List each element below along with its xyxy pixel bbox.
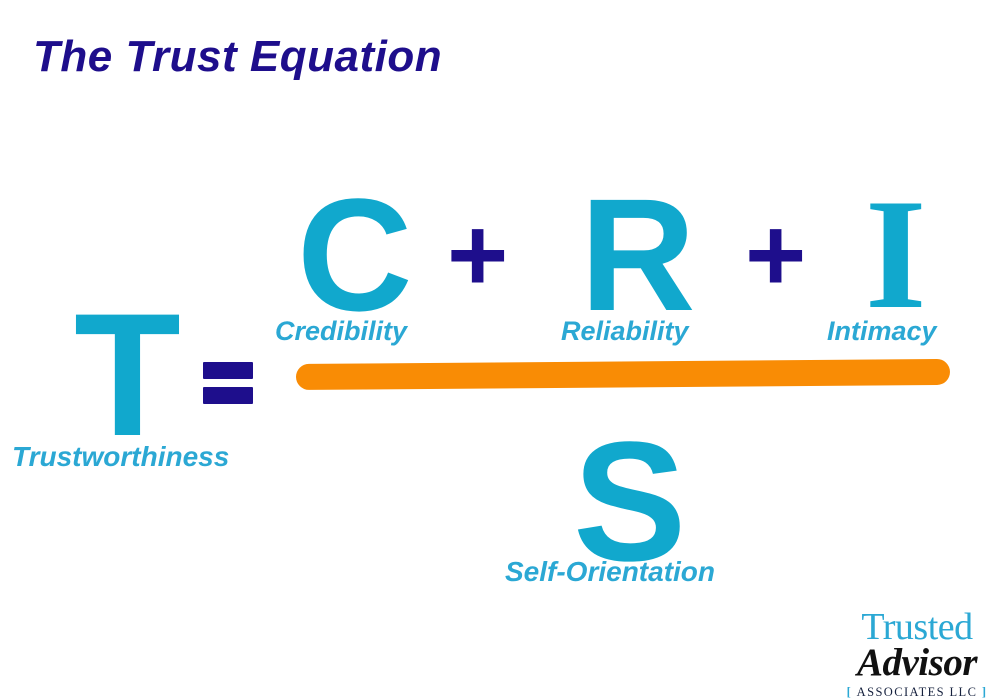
- numerator-symbol-intimacy: I: [865, 176, 927, 334]
- equals-bar-bottom: [203, 387, 253, 404]
- equals-bar-top: [203, 362, 253, 379]
- numerator-symbol-credibility: C: [297, 175, 413, 335]
- logo-bracket-close: ]: [982, 685, 988, 698]
- page-title: The Trust Equation: [33, 32, 442, 82]
- logo-tagline-text: ASSOCIATES LLC: [857, 685, 978, 698]
- fraction-bar: [296, 359, 950, 390]
- equation-result-symbol: T: [74, 288, 181, 463]
- label-self-orientation: Self-Orientation: [505, 558, 715, 586]
- label-credibility: Credibility: [275, 318, 407, 345]
- slide-canvas: The Trust Equation T Trustworthiness C +…: [0, 0, 1000, 698]
- equals-sign: [203, 362, 253, 404]
- label-trustworthiness: Trustworthiness: [12, 443, 229, 471]
- logo-bracket-open: [: [847, 685, 853, 698]
- numerator-symbol-reliability: R: [580, 175, 696, 335]
- plus-sign-2: +: [745, 203, 806, 308]
- plus-sign-1: +: [447, 203, 508, 308]
- label-intimacy: Intimacy: [827, 318, 937, 345]
- label-reliability: Reliability: [561, 318, 689, 345]
- trusted-advisor-logo: Trusted Advisor [ ASSOCIATES LLC ]: [841, 608, 993, 698]
- logo-line-advisor: Advisor: [841, 643, 993, 682]
- logo-tagline: [ ASSOCIATES LLC ]: [841, 686, 993, 698]
